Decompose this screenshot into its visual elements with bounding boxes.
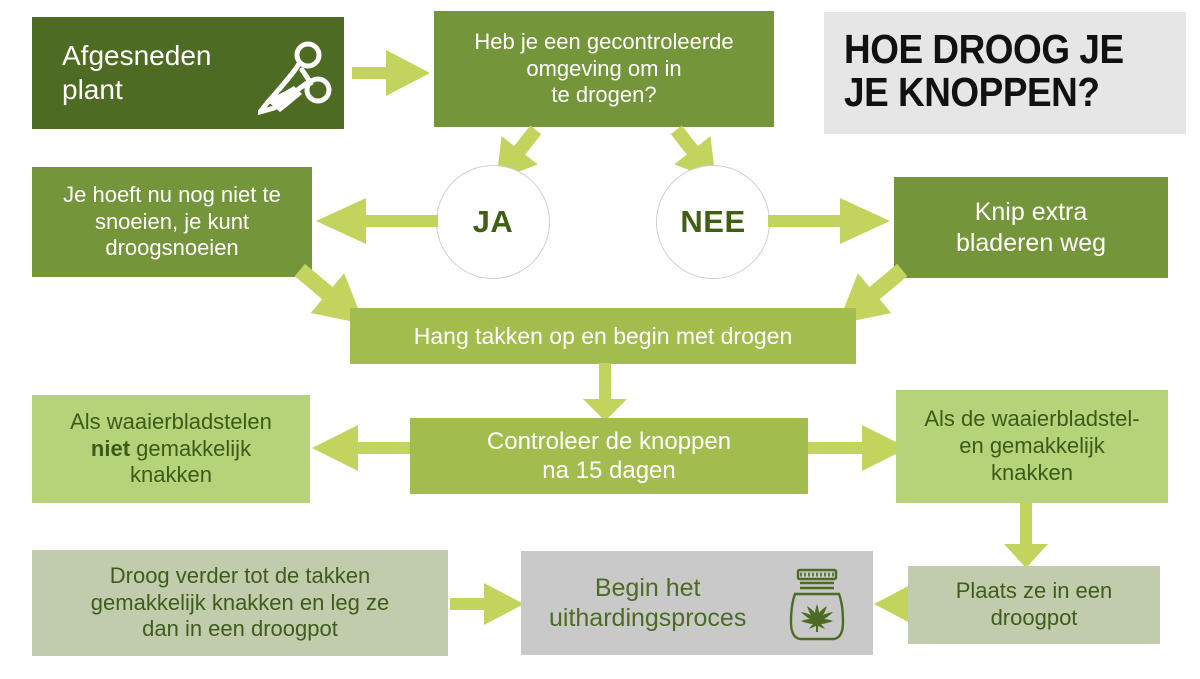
cannabis-jar-icon [786,568,848,642]
node-question: Heb je een gecontroleerde omgeving om in… [434,11,774,127]
decision-yes-label: JA [473,204,514,240]
node-check-fail: Als waaierbladstelen niet gemakkelijk kn… [32,395,310,503]
node-hang-takken: Hang takken op en begin met drogen [350,308,856,364]
node-check-knoppen-label: Controleer de knoppen na 15 dagen [420,427,798,486]
node-dry-more-label: Droog verder tot de takken gemakkelijk k… [42,563,438,643]
check-fail-line-2: gemakkelijk [130,436,251,461]
node-check-pass-label: Als de waaierbladstel- en gemakkelijk kn… [906,406,1158,486]
node-question-label: Heb je een gecontroleerde omgeving om in… [444,29,764,109]
node-hang-takken-label: Hang takken op en begin met drogen [360,322,846,350]
arrow-yes-to-branch [316,198,438,244]
arrow-no-to-branch [768,198,890,244]
arrow-check-to-fail [312,425,412,471]
arrow-start-to-question [352,50,430,96]
title-line-2: JE KNOPPEN? [844,71,1099,114]
decision-yes-circle: JA [436,165,550,279]
node-cure-label: Begin het uithardingsproces [549,573,746,634]
check-fail-line-1: Als waaierbladstelen [70,409,272,434]
decision-no-label: NEE [680,204,745,240]
node-no-branch: Knip extra bladeren weg [894,177,1168,278]
arrow-pass-to-jar [1004,502,1048,568]
node-check-pass: Als de waaierbladstel- en gemakkelijk kn… [896,390,1168,503]
arrow-hang-to-check [583,363,627,421]
decision-no-circle: NEE [656,165,770,279]
node-yes-branch: Je hoeft nu nog niet te snoeien, je kunt… [32,167,312,277]
node-no-branch-label: Knip extra bladeren weg [904,197,1158,258]
check-fail-emphasis: niet [91,436,130,461]
arrow-check-to-pass [808,425,908,471]
node-place-jar-label: Plaats ze in een droogpot [918,578,1150,632]
node-dry-more: Droog verder tot de takken gemakkelijk k… [32,550,448,656]
infographic-title: HOE DROOG JE JE KNOPPEN? [824,12,1186,134]
arrow-drymore-to-cure [450,583,524,625]
infographic-canvas: HOE DROOG JE JE KNOPPEN? Afgesneden plan… [0,0,1200,679]
scissors-icon [258,34,346,120]
node-check-knoppen: Controleer de knoppen na 15 dagen [410,418,808,494]
node-yes-branch-label: Je hoeft nu nog niet te snoeien, je kunt… [42,182,302,262]
check-fail-line-3: knakken [130,462,212,487]
node-check-fail-label: Als waaierbladstelen niet gemakkelijk kn… [42,409,300,489]
title-line-1: HOE DROOG JE [844,28,1124,71]
node-place-jar: Plaats ze in een droogpot [908,566,1160,644]
